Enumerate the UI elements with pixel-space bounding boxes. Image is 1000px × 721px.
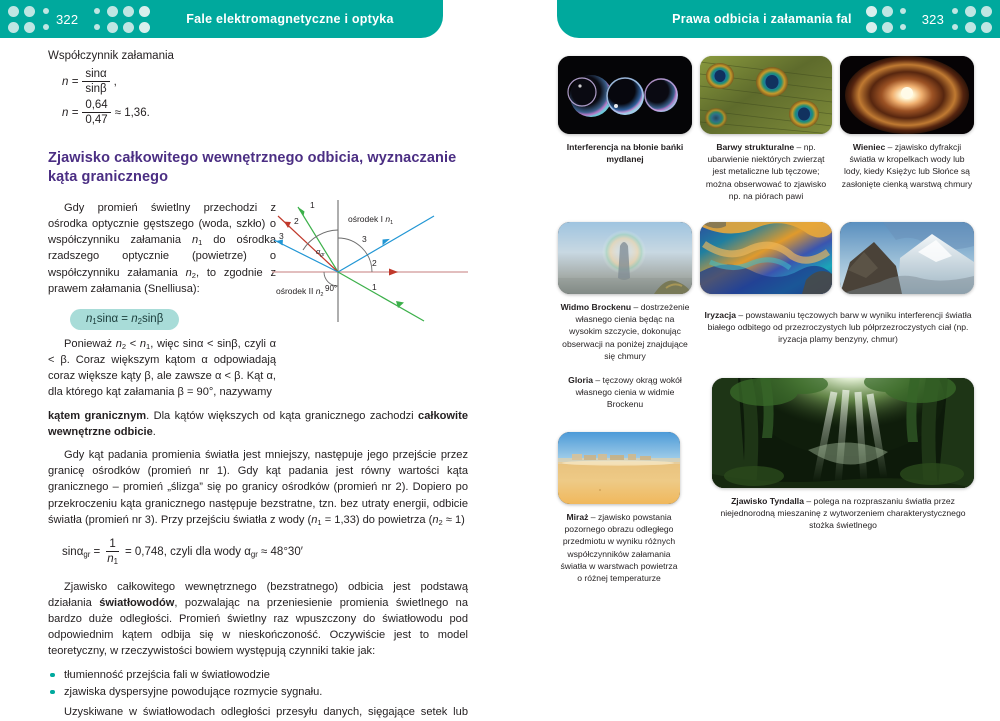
figure-tyndall: Zjawisko Tyndalla – polega na rozpraszan…	[712, 378, 974, 532]
caption-tyndall-bold: Zjawisko Tyndalla	[731, 496, 804, 506]
figure-brocken: Widmo Brockenu – dostrzeżenie własnego c…	[558, 222, 692, 411]
caption-mirage-rest: – zjawisko powstania pozornego obrazu od…	[560, 512, 677, 583]
total-internal-reflection-diagram: 1 2 3 αgr 3 2 1 ośrodek I n1 ośrodek II …	[272, 196, 472, 324]
paragraph-critical-angle-b: kątem granicznym. Dla kątów większych od…	[48, 408, 468, 440]
right-page: Prawa odbicia i załamania fal 323	[500, 0, 1000, 721]
eq1-numerator: sinα	[82, 68, 109, 82]
figure-peacock: Barwy strukturalne – np. ubarwienie niek…	[700, 56, 832, 202]
second-paragraph-block: Ponieważ n2 < n1, więc sinα < sinβ, czyl…	[48, 336, 276, 401]
incident-label-2: 2	[294, 216, 299, 226]
right-angle-label: 90°	[325, 284, 337, 293]
paragraph-rays: Gdy kąt padania promienia światła jest m…	[48, 447, 468, 528]
photo-tyndall	[712, 378, 974, 488]
tyndall-art	[712, 378, 974, 488]
caption-iridescence-bold: Iryzacja	[704, 310, 736, 320]
figure-iridescence	[700, 222, 832, 294]
photo-peacock	[700, 56, 832, 134]
dot-ornament-right-2	[949, 6, 992, 33]
left-page: 322 Fale elektromagnetyczne i optyka Wsp…	[0, 0, 500, 721]
eq3-denominator: n1	[104, 552, 121, 566]
caption-bubbles-bold: Interferencja na błonie bańki mydlanej	[567, 142, 684, 164]
snell-law-formula: n1sinα = n2sinβ	[70, 309, 179, 330]
figure-mirage: Miraż – zjawisko powstania pozornego obr…	[558, 432, 680, 584]
paragraph-fiber-optics: Zjawisko całkowitego wewnętrznego (bezst…	[48, 579, 468, 660]
section-heading: Zjawisko całkowitego wewnętrznego odbici…	[48, 149, 468, 188]
incident-label-1: 1	[310, 200, 315, 210]
caption-peacock: Barwy strukturalne – np. ubarwienie niek…	[700, 141, 832, 202]
photo-mountains	[840, 222, 974, 294]
photo-mirage	[558, 432, 680, 504]
mountains-art	[840, 222, 974, 294]
left-folio: 322	[51, 12, 83, 27]
eq2-denominator: 0,47	[82, 113, 110, 126]
medium-1-label: ośrodek I n1	[348, 214, 393, 226]
peacock-art	[700, 56, 832, 134]
right-running-head: Prawa odbicia i załamania fal 323	[557, 0, 1000, 38]
caption-bubbles: Interferencja na błonie bańki mydlanej	[558, 141, 692, 165]
diagram-svg: 1 2 3 αgr 3 2 1 ośrodek I n1 ośrodek II …	[272, 196, 472, 324]
iridescence-art	[700, 222, 832, 294]
left-column: Współczynnik załamania n = sinα sinβ , n…	[48, 50, 468, 721]
mirage-art	[558, 432, 680, 504]
intro-paragraph-block: Gdy promień świetlny przechodzi z ośrodk…	[48, 200, 276, 297]
photo-corona	[840, 56, 974, 134]
ray-label-3: 3	[362, 234, 367, 244]
caption-corona: Wieniec – zjawisko dyfrakcji światła w k…	[840, 141, 974, 190]
caption-peacock-bold: Barwy strukturalne	[716, 142, 794, 152]
left-running-head: 322 Fale elektromagnetyczne i optyka	[0, 0, 443, 38]
eq3-lhs: sinαgr =	[62, 546, 100, 559]
eq2-lhs: n =	[62, 107, 78, 119]
caption-iridescence-rest: – powstawaniu tęczowych barw w wyniku in…	[708, 310, 972, 344]
refraction-index-label: Współczynnik załamania	[48, 50, 468, 62]
caption-corona-bold: Wieniec	[853, 142, 885, 152]
dot-ornament-left	[8, 6, 51, 33]
left-running-title: Fale elektromagnetyczne i optyka	[186, 12, 393, 26]
brocken-art	[558, 222, 692, 294]
critical-angle-arc	[303, 230, 338, 250]
caption-mirage: Miraż – zjawisko powstania pozornego obr…	[558, 511, 680, 584]
bubbles-art	[558, 56, 692, 134]
right-running-title: Prawa odbicia i załamania fal	[672, 12, 852, 26]
photo-iridescence	[700, 222, 832, 294]
figure-bubbles: Interferencja na błonie bańki mydlanej	[558, 56, 692, 165]
caption-brocken-bold: Widmo Brockenu	[561, 302, 632, 312]
eq1-tail: ,	[114, 76, 117, 88]
paragraph-distances: Uzyskiwane w światłowodach odległości pr…	[48, 704, 468, 721]
eq2-fraction: 0,64 0,47	[82, 99, 110, 127]
caption-gloria-bold: Gloria	[568, 375, 593, 385]
ray-label-1: 1	[372, 282, 377, 292]
caption-brocken: Widmo Brockenu – dostrzeżenie własnego c…	[558, 301, 692, 362]
figure-corona: Wieniec – zjawisko dyfrakcji światła w k…	[840, 56, 974, 190]
photo-bubbles	[558, 56, 692, 134]
caption-tyndall: Zjawisko Tyndalla – polega na rozpraszan…	[712, 495, 974, 532]
list-item: zjawiska dyspersyjne powodujące rozmycie…	[48, 684, 468, 700]
incident-label-3: 3	[279, 231, 284, 241]
eq1-lhs: n =	[62, 76, 78, 88]
right-folio: 323	[917, 12, 949, 27]
eq2-numerator: 0,64	[82, 99, 110, 113]
eq3-numerator: 1	[106, 538, 118, 552]
eq3-tail: = 0,748, czyli dla wody αgr ≈ 48°30′	[125, 546, 303, 559]
equation-n-value: n = 0,64 0,47 ≈ 1,36.	[62, 99, 468, 127]
caption-mirage-bold: Miraż	[566, 512, 588, 522]
caption-gloria: Gloria – tęczowy okrąg wokół własnego ci…	[558, 374, 692, 411]
eq2-tail: ≈ 1,36.	[115, 107, 150, 119]
dot-ornament-right	[866, 6, 909, 33]
eq3-fraction: 1 n1	[104, 538, 121, 567]
medium-2-label: ośrodek II n2	[276, 286, 323, 298]
refracted-ray-1	[338, 272, 424, 321]
incident-arrow-1	[298, 207, 305, 216]
photo-brocken	[558, 222, 692, 294]
grazing-arrow-2	[389, 269, 398, 276]
equation-n-sin: n = sinα sinβ ,	[62, 68, 468, 96]
ray-label-2: 2	[372, 258, 377, 268]
book-spread: 322 Fale elektromagnetyczne i optyka Wsp…	[0, 0, 1000, 721]
corona-art	[840, 56, 974, 134]
equation-critical-sine: sinαgr = 1 n1 = 0,748, czyli dla wody αg…	[62, 538, 468, 567]
paragraph-critical-angle-a: Ponieważ n2 < n1, więc sinα < sinβ, czyl…	[48, 336, 276, 401]
factors-list: tłumienność przejścia fali w światłowodz…	[48, 667, 468, 700]
caption-iridescence: Iryzacja – powstawaniu tęczowych barw w …	[702, 309, 974, 346]
reflected-ray-3	[338, 216, 434, 272]
paragraph-snell-intro: Gdy promień świetlny przechodzi z ośrodk…	[48, 200, 276, 297]
dot-ornament-left-2	[91, 6, 150, 33]
list-item: tłumienność przejścia fali w światłowodz…	[48, 667, 468, 683]
eq1-fraction: sinα sinβ	[82, 68, 109, 96]
figure-mountains: Iryzacja – powstawaniu tęczowych barw w …	[840, 222, 974, 294]
eq1-denominator: sinβ	[82, 82, 109, 95]
